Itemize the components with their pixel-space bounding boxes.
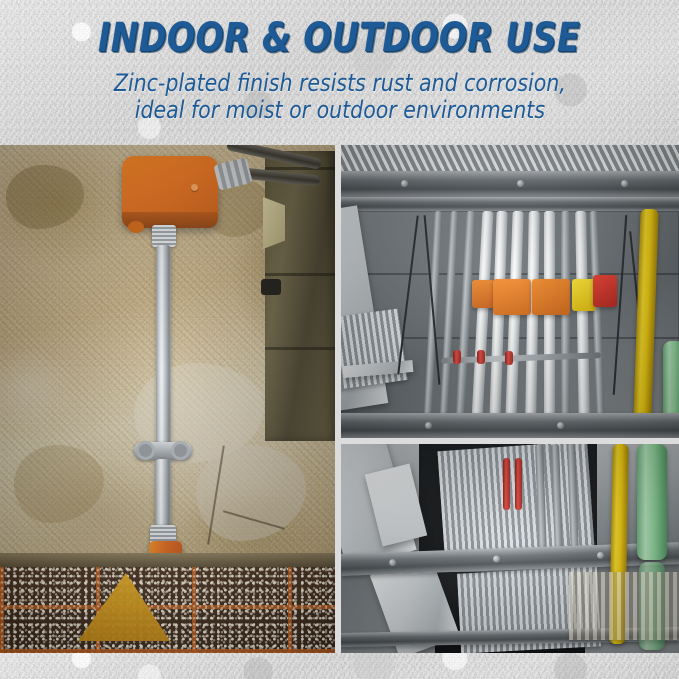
junction-box-orange-right <box>532 279 570 315</box>
junction-box-red <box>593 275 617 307</box>
wall-floor-lip <box>0 553 335 567</box>
pipe-clamp-ring <box>134 442 192 460</box>
subtitle-line-2: ideal for moist or outdoor environments <box>134 97 544 123</box>
beam-bottom-bolt-b <box>557 422 564 429</box>
expanded-metal-mesh-grating <box>341 145 679 171</box>
footer-band <box>0 653 679 679</box>
subtitle-line-1: Zinc-plated finish resists rust and corr… <box>114 70 566 96</box>
steel-beam-secondary <box>341 197 679 211</box>
header-banner: INDOOR & OUTDOOR USE Zinc-plated finish … <box>0 0 679 145</box>
beam-bottom-bolt-a <box>425 422 432 429</box>
red-service-pipe-a <box>503 458 510 510</box>
beam-mid-bolt-a <box>389 559 396 566</box>
clamp-eye-right <box>171 441 190 460</box>
beam-mid-bolt-b <box>493 555 500 562</box>
page-title: INDOOR & OUTDOOR USE <box>98 16 580 60</box>
dark-machine-housing <box>265 151 335 441</box>
conduit-white-5 <box>544 211 555 421</box>
fixture-indicator-dot <box>191 184 198 191</box>
standpipe-green-lower <box>637 444 667 560</box>
junction-box-orange-small <box>472 280 494 308</box>
image-gallery <box>0 145 679 653</box>
beam-mid-bolt-c <box>597 552 604 559</box>
conduit-galv-4 <box>561 211 570 421</box>
zinc-plated-pipe-upper <box>156 245 171 445</box>
steel-beam-top <box>341 171 679 197</box>
photo-panel-ceiling-conduit-junction-boxes[interactable] <box>341 145 679 438</box>
red-connector-a <box>453 350 461 364</box>
zinc-plated-pipe-lower <box>155 459 171 529</box>
clamp-eye-left <box>136 441 155 460</box>
machine-knob <box>261 279 281 295</box>
pipe-coupler-top <box>152 225 176 247</box>
product-feature-graphic: INDOOR & OUTDOOR USE Zinc-plated finish … <box>0 0 679 679</box>
fixture-side-nub <box>128 221 144 233</box>
orange-cylinder-fixture <box>122 156 218 228</box>
photo-panel-industrial-ceiling-services[interactable] <box>341 444 679 653</box>
glass-louvre-panel <box>569 572 679 640</box>
beam-bolt-b <box>517 180 524 187</box>
machine-seam-top <box>265 167 335 170</box>
photo-panel-zinc-plated-pipe[interactable] <box>0 145 335 653</box>
junction-box-orange-left <box>493 279 531 315</box>
machine-seam-low <box>265 347 335 350</box>
red-connector-b <box>477 350 485 364</box>
machine-seam-mid <box>265 273 335 276</box>
red-service-pipe-b <box>515 458 522 510</box>
steel-beam-bottom <box>341 413 679 438</box>
footer-concrete-texture <box>0 653 679 679</box>
red-connector-c <box>505 351 513 365</box>
beam-bolt-a <box>401 180 408 187</box>
beam-bolt-c <box>621 180 628 187</box>
standpipe-green <box>663 341 679 421</box>
machine-light-tab <box>263 197 285 249</box>
